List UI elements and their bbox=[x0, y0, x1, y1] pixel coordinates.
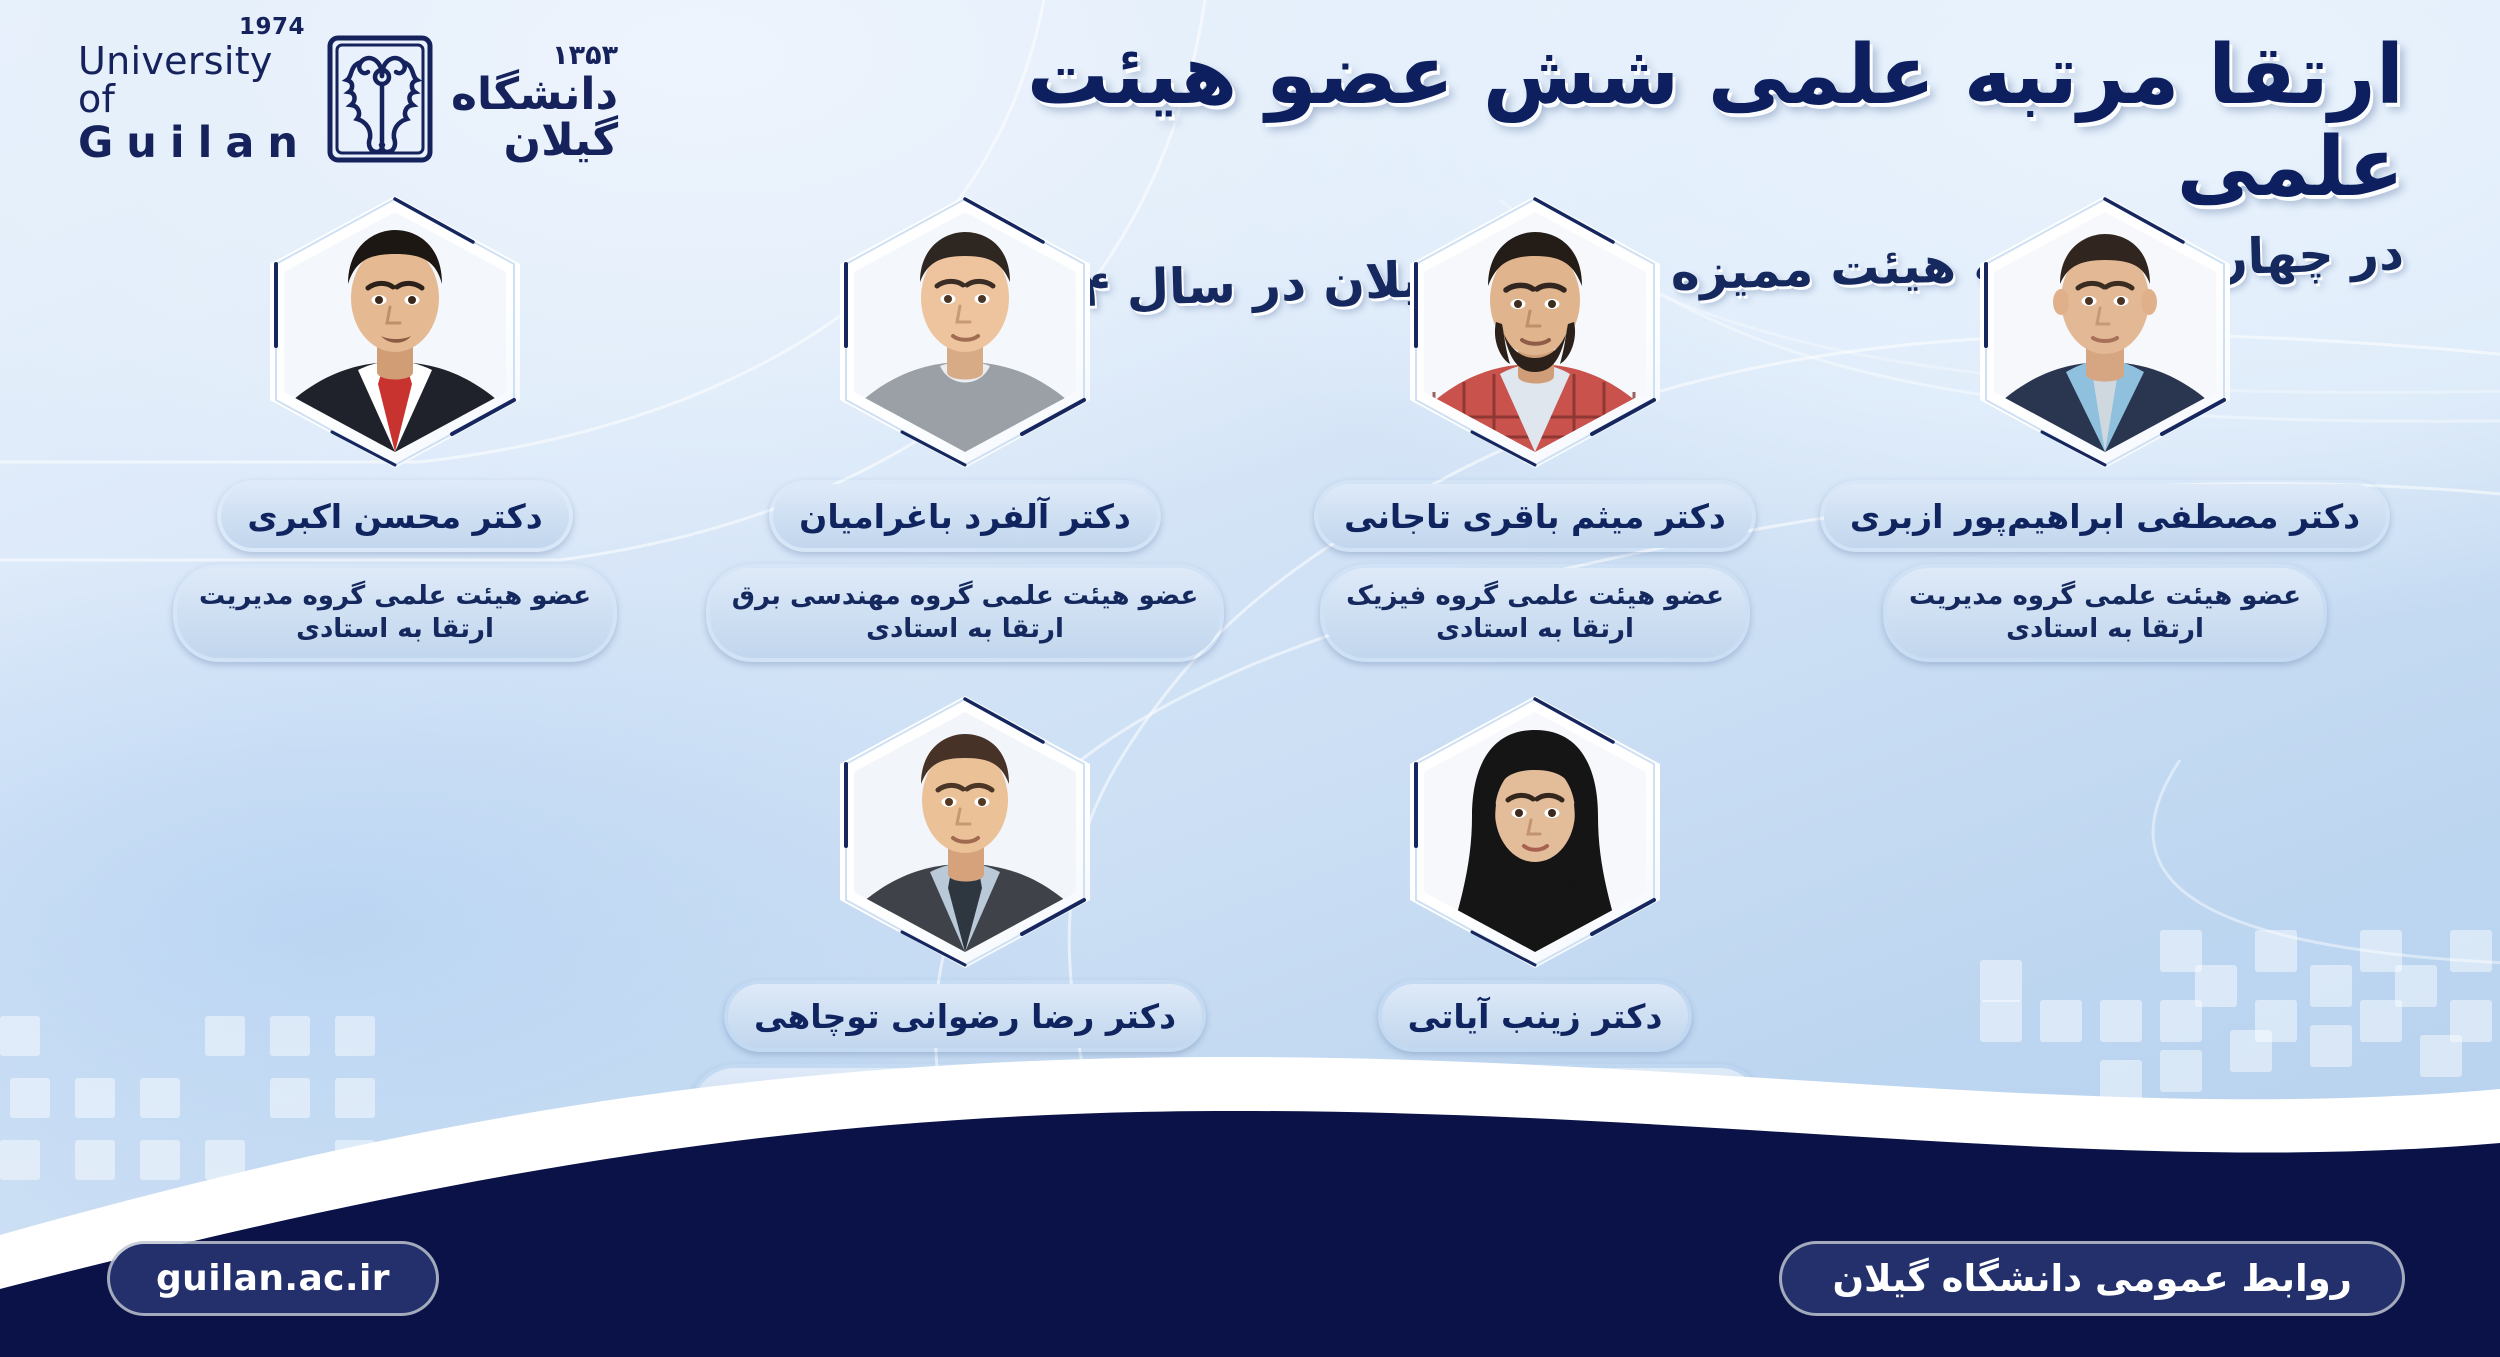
avatar bbox=[270, 196, 520, 468]
person-role: عضو هیئت علمی گروه مدیریت ارتقا به استاد… bbox=[173, 564, 617, 662]
guilan-university-emblem-icon bbox=[323, 32, 441, 174]
person-name: دکتر آلفرد باغرامیان bbox=[769, 480, 1161, 552]
logo-guilan-word: Guilan bbox=[78, 122, 311, 165]
people-row-1: دکتر مصطفی ابراهیم‌پور ازبری عضو هیئت عل… bbox=[0, 196, 2500, 662]
logo-persian-text: ۱۳۵۳ دانشگاه گیلان bbox=[451, 42, 618, 165]
avatar bbox=[1410, 696, 1660, 968]
person-card[interactable]: دکتر مصطفی ابراهیم‌پور ازبری عضو هیئت عل… bbox=[1820, 196, 2390, 662]
website-button[interactable]: guilan.ac.ir bbox=[110, 1244, 436, 1313]
avatar bbox=[1410, 196, 1660, 468]
person-card[interactable]: دکتر میثم باقری تاجانی عضو هیئت علمی گرو… bbox=[1250, 196, 1820, 662]
logo-year-solar: ۱۳۵۳ bbox=[451, 42, 618, 70]
university-logo[interactable]: 1974 University of Guilan bbox=[78, 28, 548, 178]
avatar bbox=[1980, 196, 2230, 468]
avatar bbox=[840, 696, 1090, 968]
person-name: دکتر مصطفی ابراهیم‌پور ازبری bbox=[1820, 480, 2390, 552]
person-card[interactable]: دکتر آلفرد باغرامیان عضو هیئت علمی گروه … bbox=[680, 196, 1250, 662]
logo-university-name-fa: دانشگاه گیلان bbox=[451, 72, 618, 164]
avatar bbox=[840, 196, 1090, 468]
person-name: دکتر محسن اکبری bbox=[217, 480, 572, 552]
public-relations-badge[interactable]: روابط عمومی دانشگاه گیلان bbox=[1782, 1244, 2402, 1313]
poster-canvas: 1974 University of Guilan bbox=[0, 0, 2500, 1357]
person-role: عضو هیئت علمی گروه مدیریت ارتقا به استاد… bbox=[1883, 564, 2327, 662]
person-name: دکتر میثم باقری تاجانی bbox=[1314, 480, 1756, 552]
page-title: ارتقا مرتبه علمی شش عضو هیئت علمی bbox=[944, 30, 2404, 214]
logo-year-gregorian: 1974 bbox=[239, 16, 305, 39]
public-relations-label: روابط عمومی دانشگاه گیلان bbox=[1832, 1257, 2352, 1300]
website-label: guilan.ac.ir bbox=[156, 1258, 390, 1299]
logo-university-word: University of bbox=[78, 42, 311, 118]
logo-english-text: 1974 University of Guilan bbox=[78, 42, 311, 165]
person-role: عضو هیئت علمی گروه مهندسی برق ارتقا به ا… bbox=[706, 564, 1225, 662]
person-card[interactable]: دکتر محسن اکبری عضو هیئت علمی گروه مدیری… bbox=[110, 196, 680, 662]
person-role: عضو هیئت علمی گروه فیزیک ارتقا به استادی bbox=[1320, 564, 1750, 662]
